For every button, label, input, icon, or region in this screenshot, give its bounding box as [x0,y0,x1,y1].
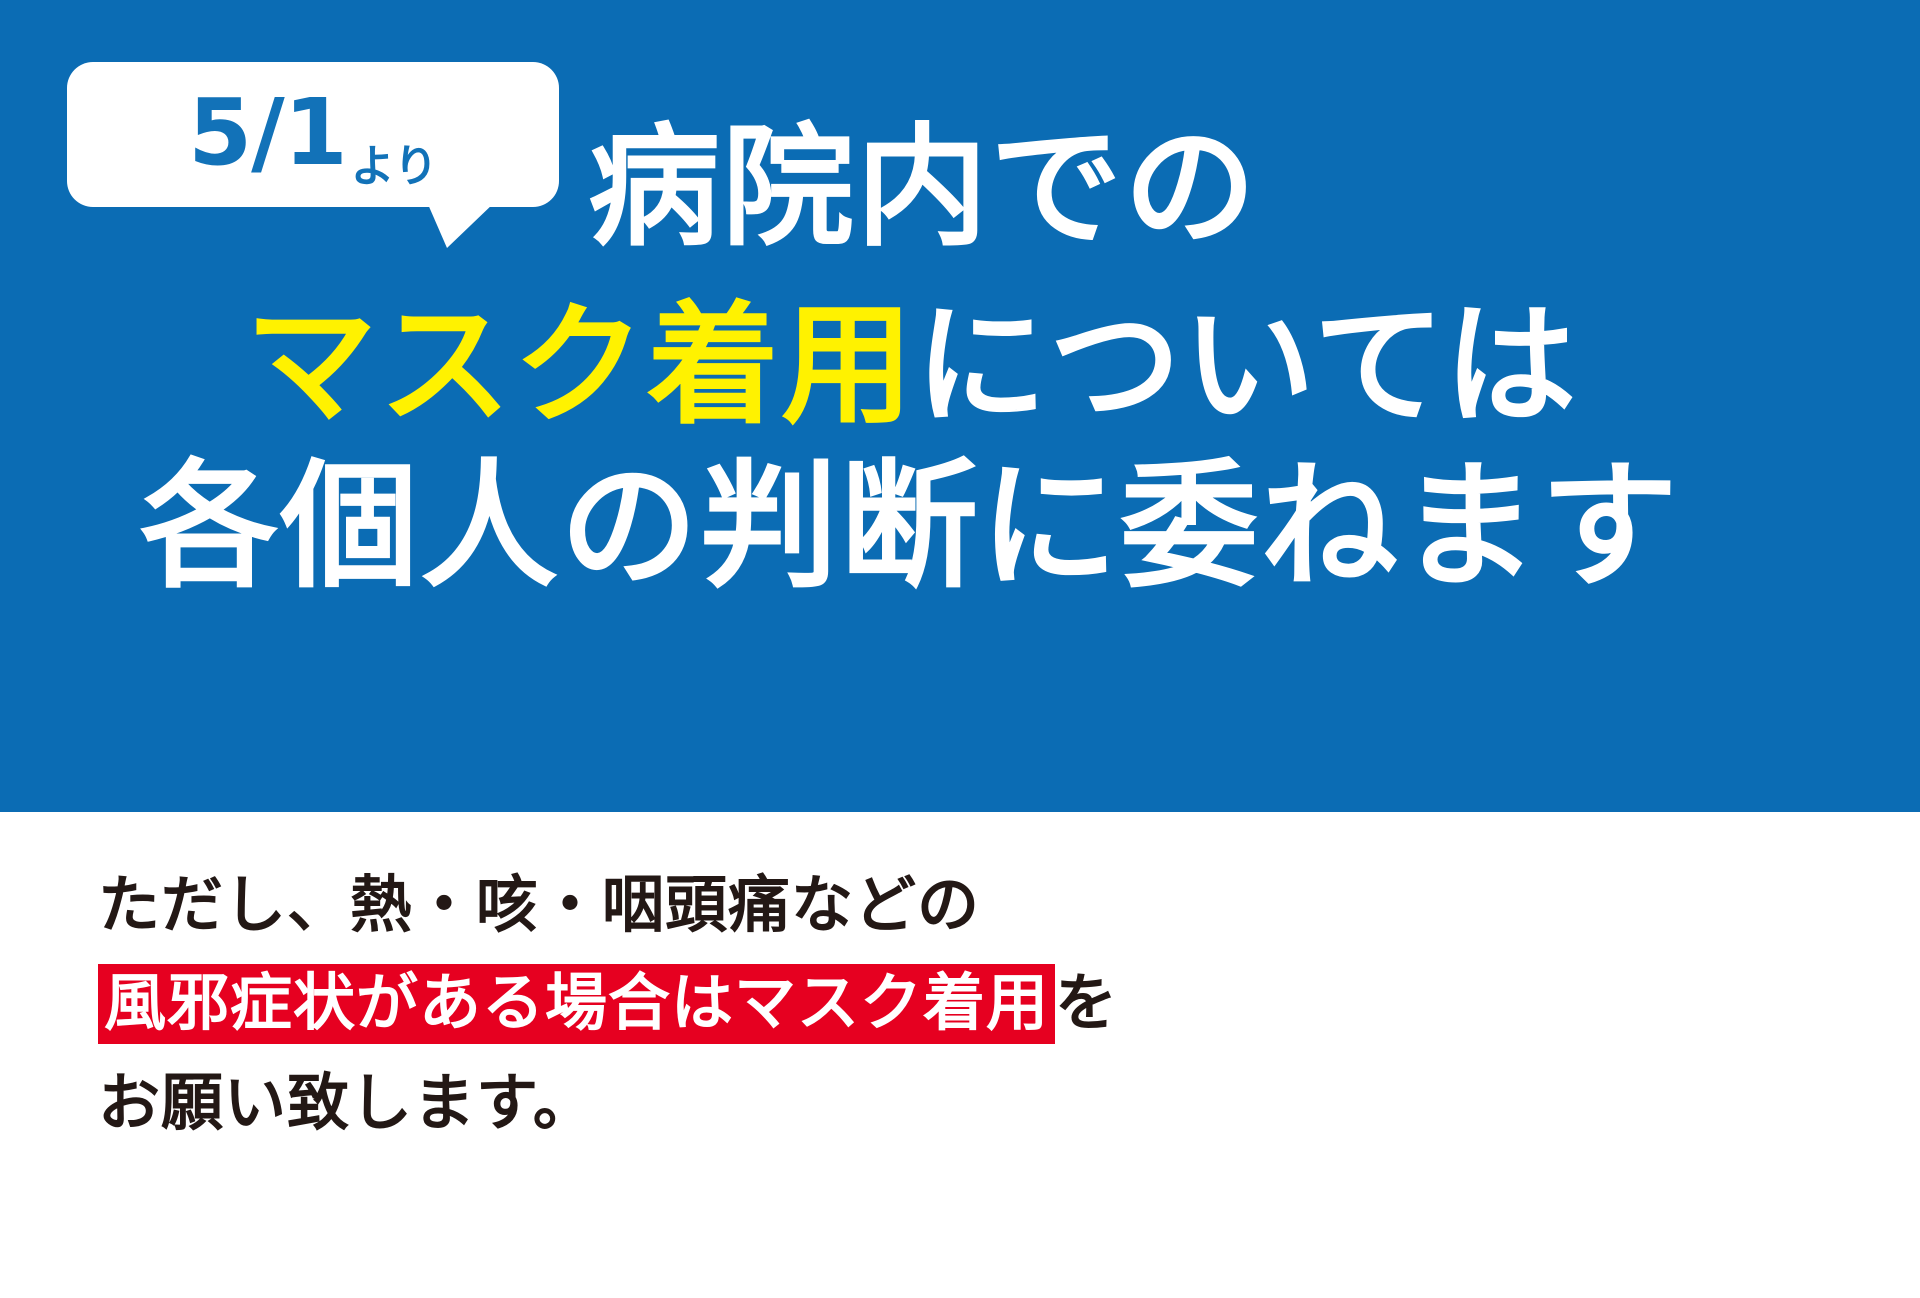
note-line-2: 風邪症状がある場合はマスク着用を [98,964,1318,1044]
badge-date: 5/1 [188,87,347,183]
headline-line-3: 各個人の判断に委ねます [140,458,1680,596]
date-speech-bubble: 5/1 より [67,62,559,237]
headline-line-1: 病院内での [588,122,1258,254]
note-block: ただし、熱・咳・咽頭痛などの 風邪症状がある場合はマスク着用を お願い致します。 [98,874,1318,1134]
headline-line-2: マスク着用については [245,300,1578,432]
speech-bubble-body: 5/1 より [67,62,559,207]
note-line-2-rest: を [1055,966,1118,1039]
note-line-1: ただし、熱・咳・咽頭痛などの [98,874,1318,936]
blue-header-panel: 5/1 より 病院内での マスク着用については 各個人の判断に委ねます [0,0,1920,812]
note-line-3: お願い致します。 [98,1072,1318,1134]
speech-bubble-tail [427,202,495,248]
headline-highlight-mask-wearing: マスク着用 [245,289,915,443]
note-highlight-cold-symptoms: 風邪症状がある場合はマスク着用 [98,964,1055,1044]
badge-suffix: より [347,145,438,207]
headline-line-2-rest: については [915,289,1578,443]
white-note-panel: ただし、熱・咳・咽頭痛などの 風邪症状がある場合はマスク着用を お願い致します。 [0,812,1920,1298]
